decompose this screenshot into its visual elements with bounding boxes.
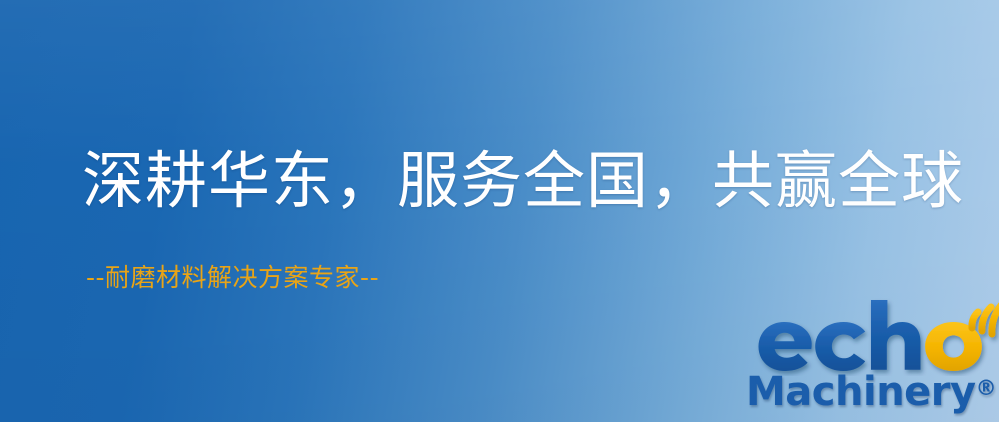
logo-machinery-wordmark: Machinery® [746, 372, 997, 412]
hero-banner: 深耕华东，服务全国，共赢全球 --耐磨材料解决方案专家-- [0, 0, 999, 422]
logo-letter-h [871, 300, 921, 370]
company-logo[interactable]: Machinery® [742, 296, 999, 422]
banner-headline: 深耕华东，服务全国，共赢全球 [82, 150, 952, 212]
logo-echo-wordmark [746, 298, 999, 376]
logo-letter-c [815, 322, 865, 371]
registered-trademark-icon: ® [976, 376, 997, 400]
logo-letter-e [759, 322, 812, 371]
logo-machinery-text: Machinery [746, 369, 976, 415]
logo-signal-waves-icon [972, 302, 999, 334]
banner-subtitle: --耐磨材料解决方案专家-- [86, 265, 379, 290]
